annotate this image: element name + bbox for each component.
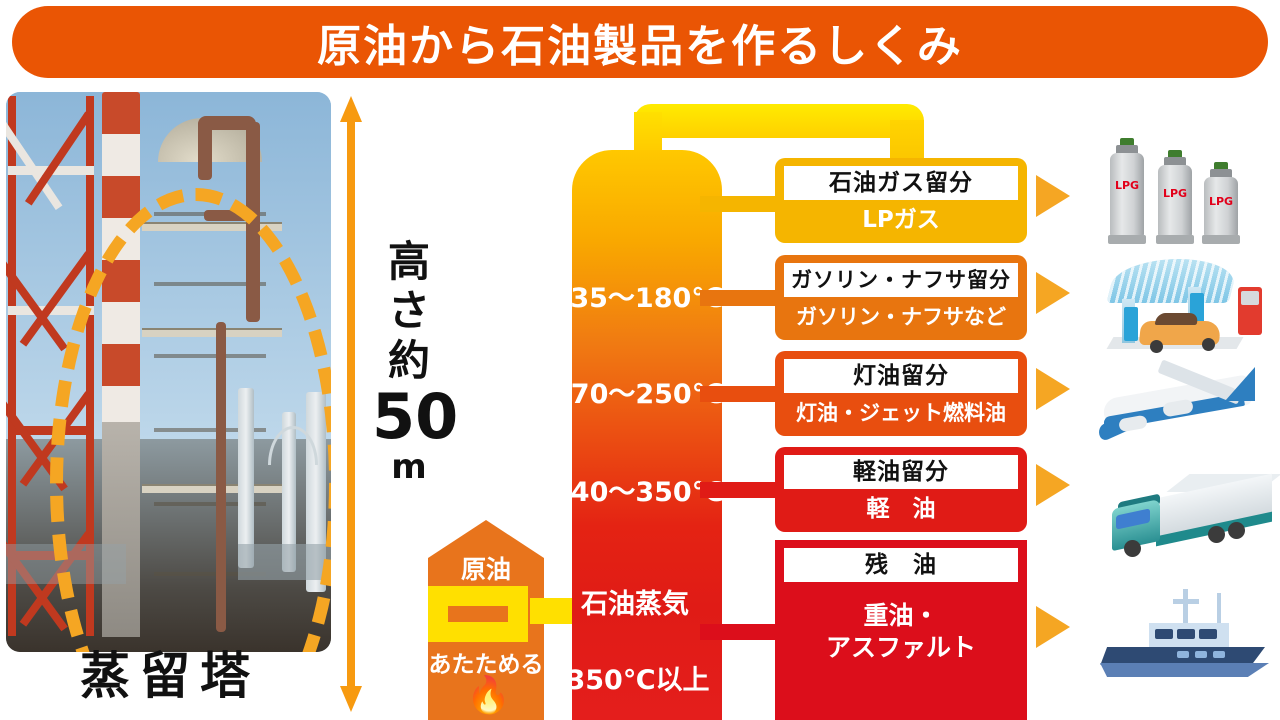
ship-icon xyxy=(1085,585,1280,685)
arrow-to-lpg-icon xyxy=(1036,175,1070,217)
temp-label-3: 240〜350℃ xyxy=(552,470,724,509)
fraction-title: 残 油 xyxy=(784,548,1018,582)
height-arrow xyxy=(340,96,362,712)
refinery-photo xyxy=(6,92,331,652)
height-annotation: 高 さ 約 50 m xyxy=(372,238,446,486)
fraction-box-diesel[interactable]: 軽油留分 軽 油 xyxy=(775,447,1027,532)
lpg-label: LPG xyxy=(1204,195,1238,208)
height-label-line2: さ xyxy=(372,286,446,336)
fraction-product-line2: アスファルト xyxy=(775,632,1027,664)
arrow-head-down-icon xyxy=(340,686,362,712)
page-title: 原油から石油製品を作るしくみ xyxy=(12,6,1268,78)
heater-label: 原油 xyxy=(428,550,544,586)
arrow-to-diesel-icon xyxy=(1036,464,1070,506)
height-label-value: 50 xyxy=(372,386,446,448)
lpg-label: LPG xyxy=(1110,179,1144,192)
fraction-product: LPガス xyxy=(775,200,1027,243)
connector-3 xyxy=(700,386,786,402)
truck-icon xyxy=(1090,468,1275,568)
airplane-icon xyxy=(1085,365,1275,465)
heater-sublabel: あたためる xyxy=(420,645,552,679)
fraction-title: 軽油留分 xyxy=(784,455,1018,489)
fraction-product: 軽 油 xyxy=(775,489,1027,532)
fraction-box-kerosene[interactable]: 灯油留分 灯油・ジェット燃料油 xyxy=(775,351,1027,436)
connector-5 xyxy=(700,624,786,640)
arrow-shaft xyxy=(347,118,355,690)
lpg-label: LPG xyxy=(1158,187,1192,200)
fraction-box-gas[interactable]: 石油ガス留分 LPガス xyxy=(775,158,1027,243)
connector-2 xyxy=(700,290,786,306)
gas-station-icon xyxy=(1090,255,1270,365)
fraction-product: ガソリン・ナフサなど xyxy=(775,297,1027,340)
fraction-title: ガソリン・ナフサ留分 xyxy=(784,263,1018,297)
height-label-unit: m xyxy=(372,448,446,486)
arrow-to-kerosene-icon xyxy=(1036,368,1070,410)
fraction-box-gasoline[interactable]: ガソリン・ナフサ留分 ガソリン・ナフサなど xyxy=(775,255,1027,340)
overhead-pipe-horizontal xyxy=(634,104,924,138)
height-label-line1: 高 xyxy=(372,238,446,286)
fraction-box-residue[interactable]: 残 油 重油・ アスファルト xyxy=(775,540,1027,720)
temp-label-4: 350℃以上 xyxy=(552,658,724,697)
arrow-to-gasoline-icon xyxy=(1036,272,1070,314)
connector-4 xyxy=(700,482,786,498)
temp-label-2: 170〜250℃ xyxy=(552,372,724,411)
fraction-product-line1: 重油・ xyxy=(775,582,1027,632)
fraction-title: 灯油留分 xyxy=(784,359,1018,393)
connector-1 xyxy=(700,196,786,212)
photo-caption: 蒸留塔 xyxy=(0,636,340,708)
flame-icon: 🔥 xyxy=(466,676,508,716)
lpg-cylinders-icon: LPG LPG LPG xyxy=(1100,138,1260,248)
arrow-to-residue-icon xyxy=(1036,606,1070,648)
fraction-product: 灯油・ジェット燃料油 xyxy=(775,393,1027,436)
vapor-label: 石油蒸気 xyxy=(560,582,710,621)
title-banner: 原油から石油製品を作るしくみ xyxy=(12,6,1268,78)
infographic-root: 原油から石油製品を作るしくみ xyxy=(0,0,1280,720)
height-label-line3: 約 xyxy=(372,336,446,386)
fraction-title: 石油ガス留分 xyxy=(784,166,1018,200)
